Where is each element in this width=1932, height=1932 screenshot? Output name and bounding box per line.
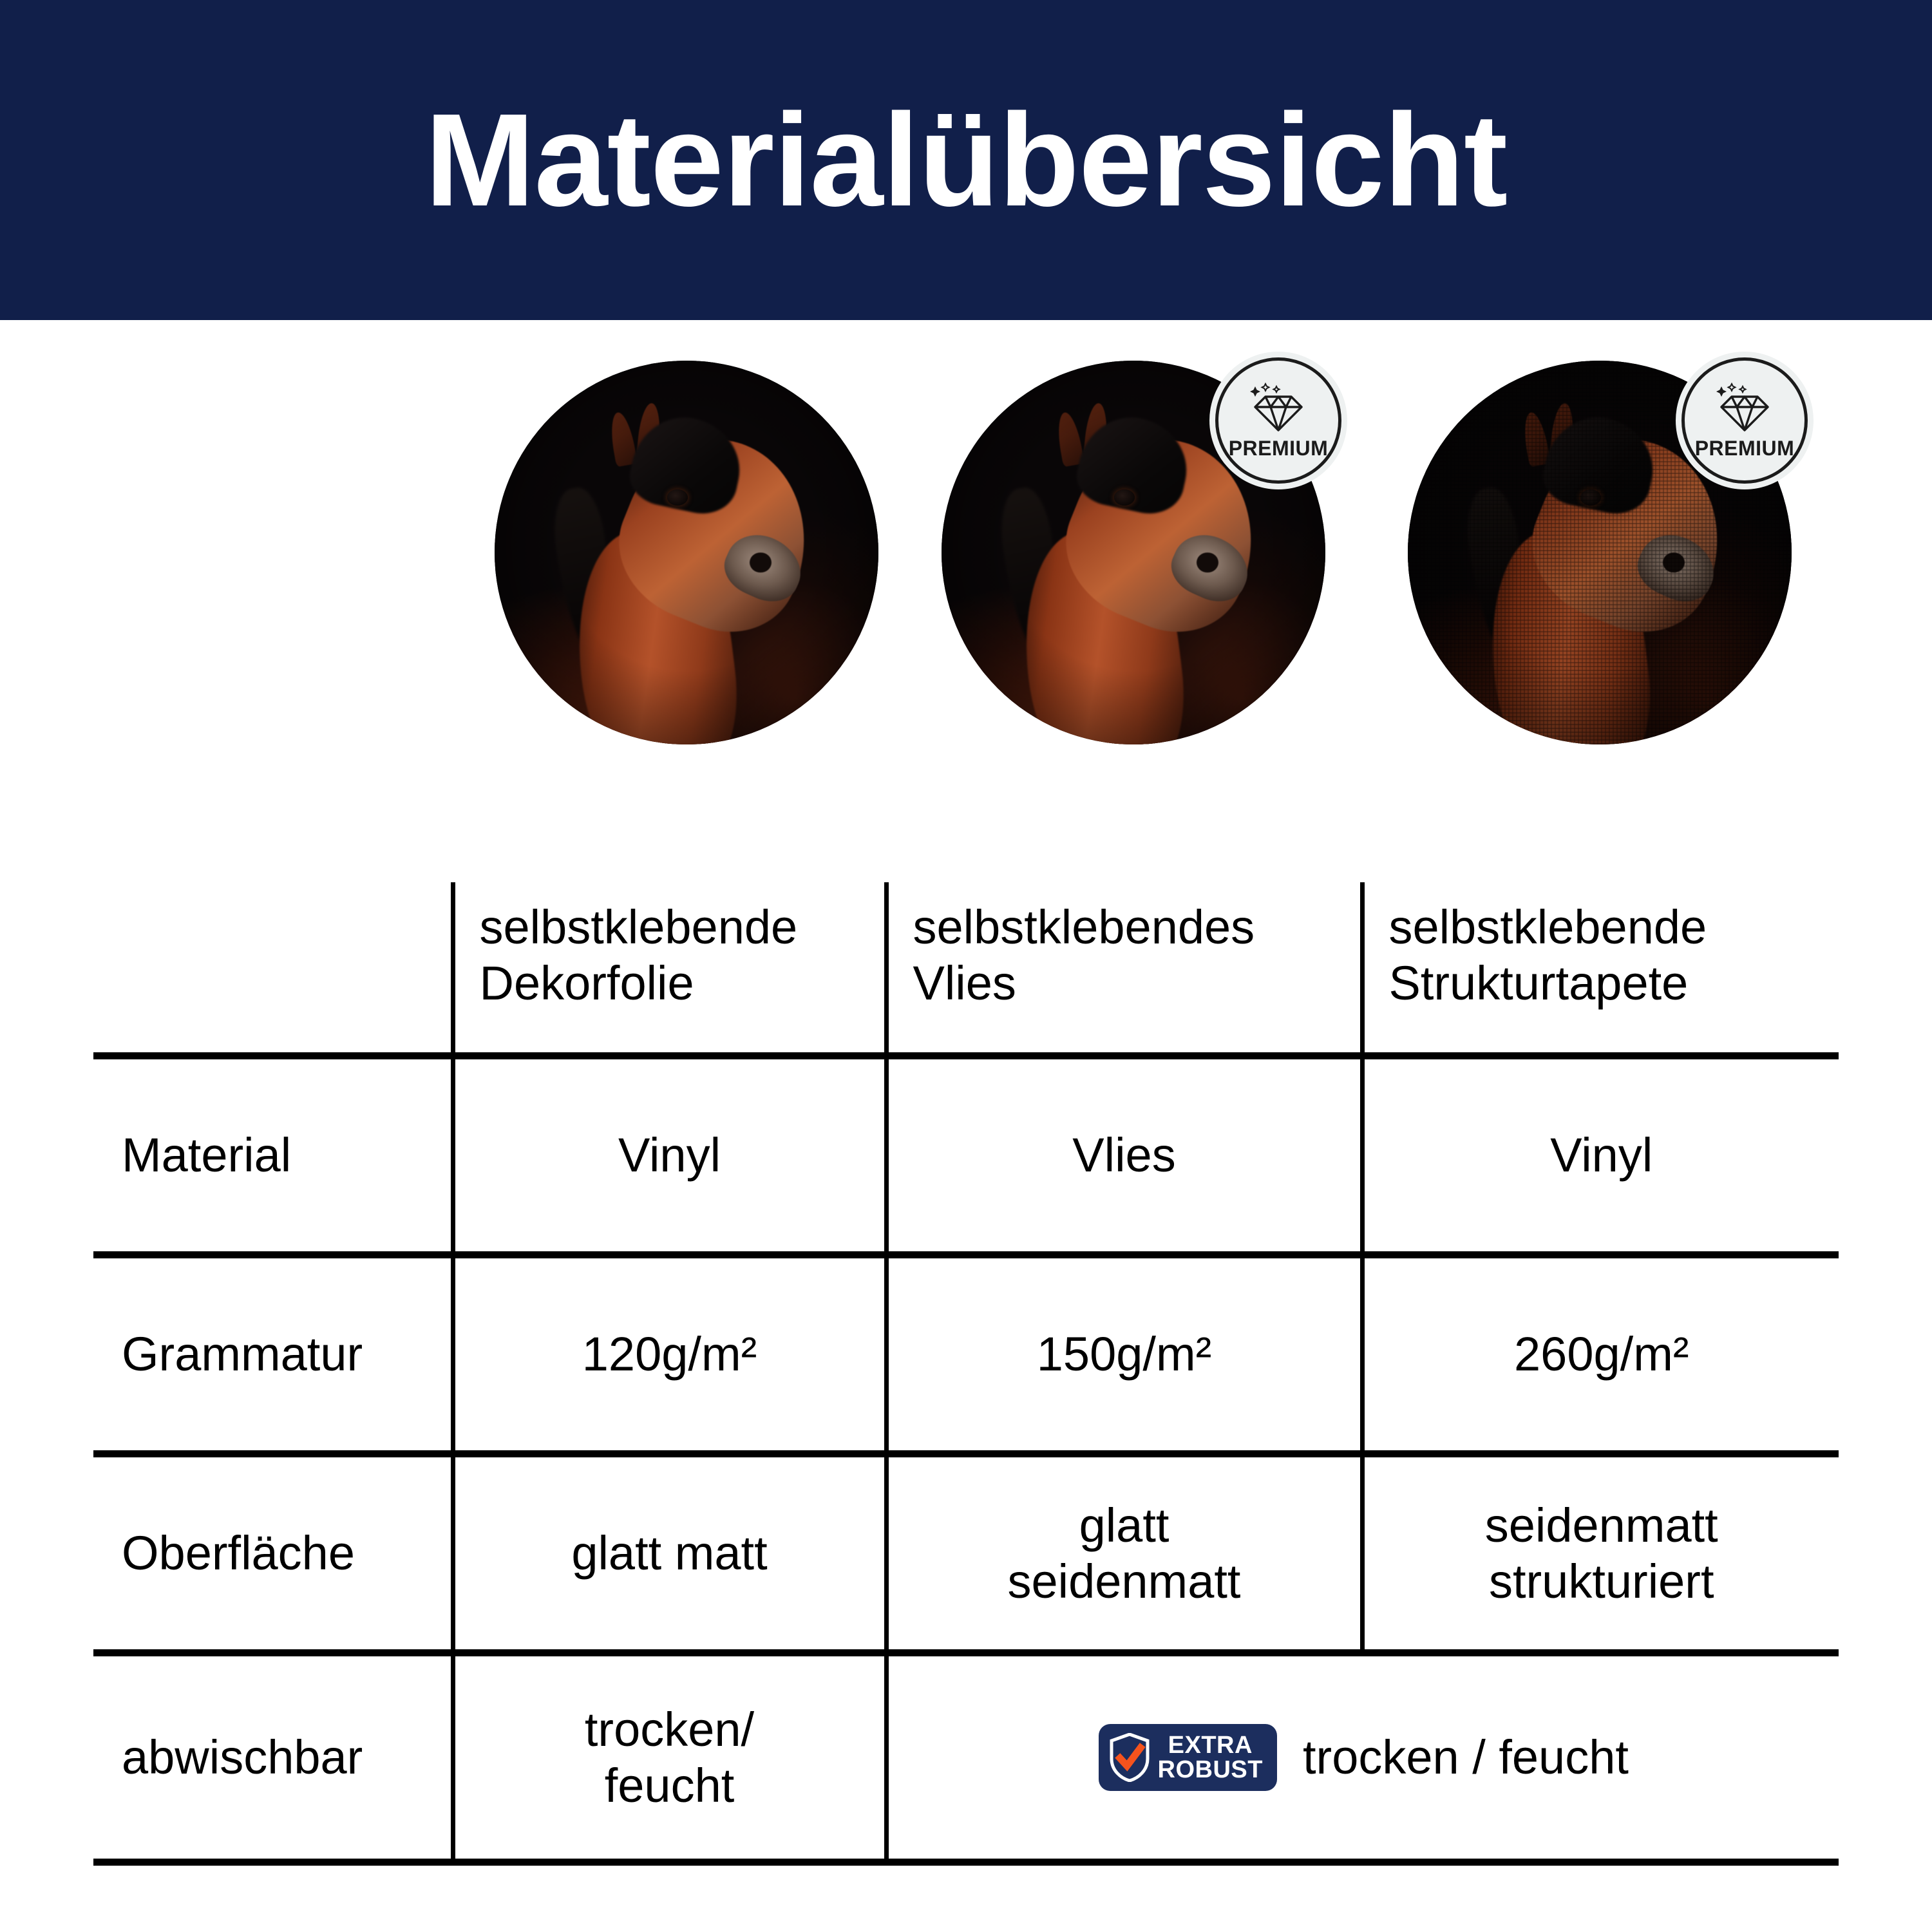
header-line-2: Strukturtapete [1389,955,1828,1011]
table-row-material: Material Vinyl Vlies Vinyl [93,1056,1839,1255]
cell-grammatur-dekorfolie: 120g/m² [453,1255,886,1454]
table-header-vlies: selbstklebendes Vlies [886,882,1362,1056]
table-header-dekorfolie: selbstklebende Dekorfolie [453,882,886,1056]
horse-artwork [495,361,878,744]
table-header-strukturtapete: selbstklebende Strukturtapete [1362,882,1839,1056]
premium-badge-label: PREMIUM [1695,438,1795,459]
cell-oberflaeche-strukturtapete: seidenmatt strukturiert [1362,1454,1839,1653]
preview-image-dekorfolie [495,361,878,744]
cell-line-2: seidenmatt [900,1553,1349,1609]
cell-line-2: feucht [467,1757,873,1814]
extra-robust-line-2: ROBUST [1158,1757,1263,1782]
cell-line-2: strukturiert [1376,1553,1828,1609]
cell-line-1: glatt [900,1497,1349,1553]
preview-circles-row: PREMIUM [0,361,1932,760]
cell-abwischbar-merged-label: trocken / feucht [1303,1729,1629,1785]
page-title: Materialübersicht [425,94,1507,226]
row-label-grammatur: Grammatur [93,1255,453,1454]
table-row-grammatur: Grammatur 120g/m² 150g/m² 260g/m² [93,1255,1839,1454]
shield-check-icon [1109,1733,1150,1782]
row-label-material: Material [93,1056,453,1255]
header-line-1: selbstklebende [480,899,873,955]
header-line-2: Vlies [913,955,1349,1011]
cell-line-1: seidenmatt [1376,1497,1828,1553]
premium-badge-label: PREMIUM [1229,438,1329,459]
row-label-oberflaeche: Oberfläche [93,1454,453,1653]
premium-badge-inner: PREMIUM [1681,357,1808,484]
extra-robust-badge: EXTRA ROBUST [1099,1724,1277,1791]
cell-material-vlies: Vlies [886,1056,1362,1255]
cell-grammatur-vlies: 150g/m² [886,1255,1362,1454]
merged-cell-content: EXTRA ROBUST trocken / feucht [900,1724,1828,1791]
preview-strukturtapete[interactable]: PREMIUM [1408,361,1792,744]
table-row-abwischbar: abwischbar trocken/ feucht EXTRA [93,1653,1839,1862]
table-header-corner [93,882,453,1056]
cell-material-strukturtapete: Vinyl [1362,1056,1839,1255]
cell-abwischbar-merged: EXTRA ROBUST trocken / feucht [886,1653,1839,1862]
cell-line-1: trocken/ [467,1701,873,1757]
cell-oberflaeche-vlies: glatt seidenmatt [886,1454,1362,1653]
table-header-row: selbstklebende Dekorfolie selbstklebende… [93,882,1839,1056]
row-label-abwischbar: abwischbar [93,1653,453,1862]
premium-badge-inner: PREMIUM [1215,357,1341,484]
cell-oberflaeche-dekorfolie: glatt matt [453,1454,886,1653]
header-line-1: selbstklebende [1389,899,1828,955]
cell-abwischbar-dekorfolie: trocken/ feucht [453,1653,886,1862]
diamond-icon [1247,383,1309,434]
diamond-icon [1714,383,1776,434]
image-vignette [495,361,878,744]
premium-badge: PREMIUM [1676,352,1814,489]
header-banner: Materialübersicht [0,0,1932,320]
cell-material-dekorfolie: Vinyl [453,1056,886,1255]
material-spec-table: selbstklebende Dekorfolie selbstklebende… [93,882,1839,1866]
header-line-1: selbstklebendes [913,899,1349,955]
preview-vlies[interactable]: PREMIUM [942,361,1325,744]
header-line-2: Dekorfolie [480,955,873,1011]
table-row-oberflaeche: Oberfläche glatt matt glatt seidenmatt s… [93,1454,1839,1653]
premium-badge: PREMIUM [1209,352,1347,489]
cell-grammatur-strukturtapete: 260g/m² [1362,1255,1839,1454]
extra-robust-line-1: EXTRA [1158,1733,1263,1757]
preview-dekorfolie[interactable] [495,361,878,744]
extra-robust-text: EXTRA ROBUST [1158,1733,1263,1782]
material-spec-table-wrapper: selbstklebende Dekorfolie selbstklebende… [93,882,1839,1866]
